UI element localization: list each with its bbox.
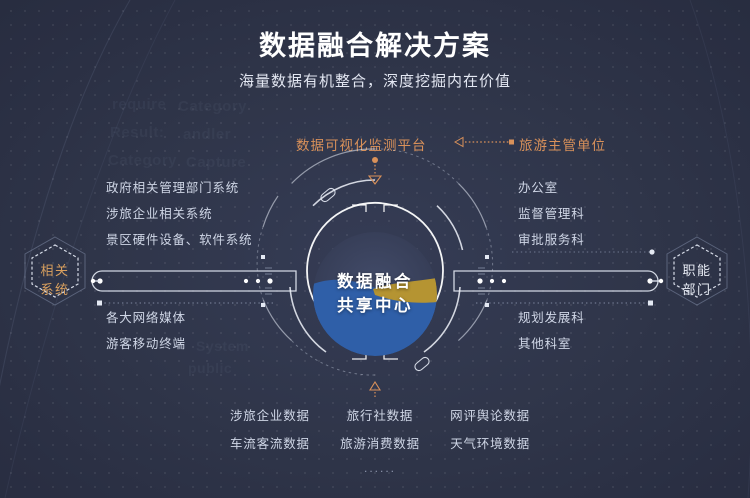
list-item: 景区硬件设备、软件系统 [106, 227, 252, 253]
bottom-grid-row-2: 车流客流数据 旅游消费数据 天气环境数据 [230, 433, 530, 452]
hexagon-right-functional-depts[interactable]: 职能 部门 [655, 234, 739, 326]
ghost-text-7: public [188, 360, 232, 376]
hex-right-line1: 职能 [682, 261, 711, 280]
bottom-marker-icon [370, 382, 380, 398]
section-header-visualization-platform: 数据可视化监测平台 [296, 134, 427, 154]
list-item: 办公室 [518, 175, 585, 201]
list-item: 其他科室 [518, 331, 585, 357]
list-item: 涉旅企业相关系统 [106, 201, 252, 227]
bottom-grid-row-1: 涉旅企业数据 旅行社数据 网评舆论数据 [230, 405, 530, 424]
hex-right-line2: 部门 [682, 280, 711, 299]
ghost-text-2: Result: [110, 124, 164, 141]
list-item: 规划发展科 [518, 305, 585, 331]
ghost-text-6: System [196, 338, 249, 354]
ghost-text-4: Category [108, 152, 177, 169]
core-label-line2: 共享中心 [337, 294, 413, 318]
grid-cell: 车流客流数据 [230, 433, 310, 452]
list-item: 游客移动终端 [106, 331, 186, 357]
grid-cell: 涉旅企业数据 [230, 405, 310, 424]
core-label-line1: 数据融合 [337, 270, 413, 294]
ghost-text-0: require [112, 96, 166, 113]
grid-cell: 天气环境数据 [450, 433, 530, 452]
bottom-data-grid: 涉旅企业数据 旅行社数据 网评舆论数据 车流客流数据 旅游消费数据 天气环境数据… [230, 405, 530, 475]
core-label: 数据融合 共享中心 [313, 232, 437, 356]
right-connector-bus [454, 271, 658, 291]
section-header-tourism-authority: 旅游主管单位 [519, 134, 606, 154]
page-subtitle: 海量数据有机整合，深度挖掘内在价值 [0, 70, 750, 91]
left-top-list: 政府相关管理部门系统 涉旅企业相关系统 景区硬件设备、软件系统 [106, 175, 252, 253]
list-item: 各大网络媒体 [106, 305, 186, 331]
grid-cell: 旅行社数据 [347, 405, 414, 424]
right-bottom-list: 规划发展科 其他科室 [518, 305, 585, 357]
grid-cell: 旅游消费数据 [340, 433, 420, 452]
ghost-text-5: Capture [186, 154, 246, 171]
top-marker-icon [369, 157, 381, 184]
ghost-text-3: andler [183, 126, 231, 143]
list-item: 监督管理科 [518, 201, 585, 227]
infographic-canvas: require Category Result: andler Category… [0, 0, 750, 498]
hex-left-line1: 相关 [40, 261, 69, 280]
left-connector-bus [92, 271, 296, 291]
page-title: 数据融合解决方案 [0, 24, 750, 63]
ghost-text-1: Category [178, 98, 247, 115]
left-bottom-list: 各大网络媒体 游客移动终端 [106, 305, 186, 357]
dotted-arrow-left-icon [443, 134, 519, 150]
hex-left-line2: 系统 [40, 280, 69, 299]
hexagon-left-related-systems[interactable]: 相关 系统 [13, 234, 97, 326]
grid-ellipsis: ...... [230, 461, 530, 475]
grid-cell: 网评舆论数据 [450, 405, 530, 424]
right-top-list: 办公室 监督管理科 审批服务科 [518, 175, 585, 253]
list-item: 政府相关管理部门系统 [106, 175, 252, 201]
list-item: 审批服务科 [518, 227, 585, 253]
